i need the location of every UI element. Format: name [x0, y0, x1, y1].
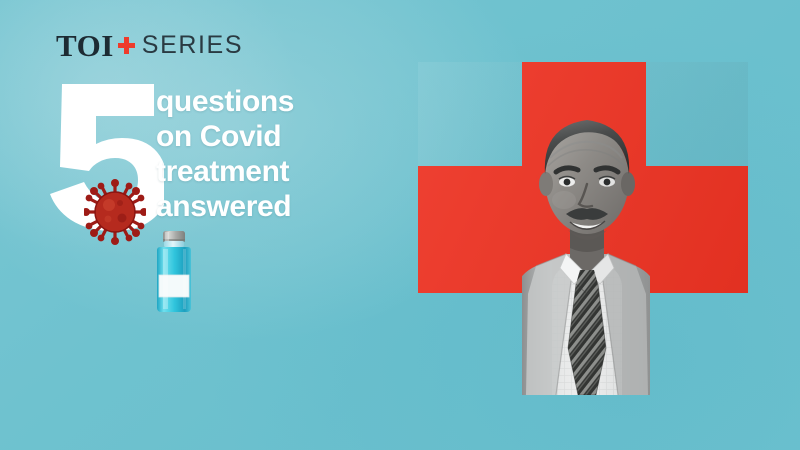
vaccine-vial-icon — [150, 230, 198, 314]
doctor-portrait — [522, 88, 650, 395]
headline-line-3: treatment — [156, 154, 386, 189]
headline-line-1: questions — [156, 84, 386, 119]
brand-name: TOI — [56, 30, 114, 61]
series-label: SERIES — [142, 33, 243, 58]
headline: questions on Covid treatment answered — [156, 84, 386, 224]
numeral-graphic-group — [44, 82, 164, 232]
coronavirus-icon — [84, 178, 146, 246]
headline-line-2: on Covid — [156, 119, 386, 154]
headline-line-4: answered — [156, 189, 386, 224]
plus-icon — [118, 37, 135, 54]
toi-plus-series-poster: TOI SERIES — [0, 0, 800, 450]
toi-plus-logo[interactable]: TOI SERIES — [56, 30, 243, 60]
